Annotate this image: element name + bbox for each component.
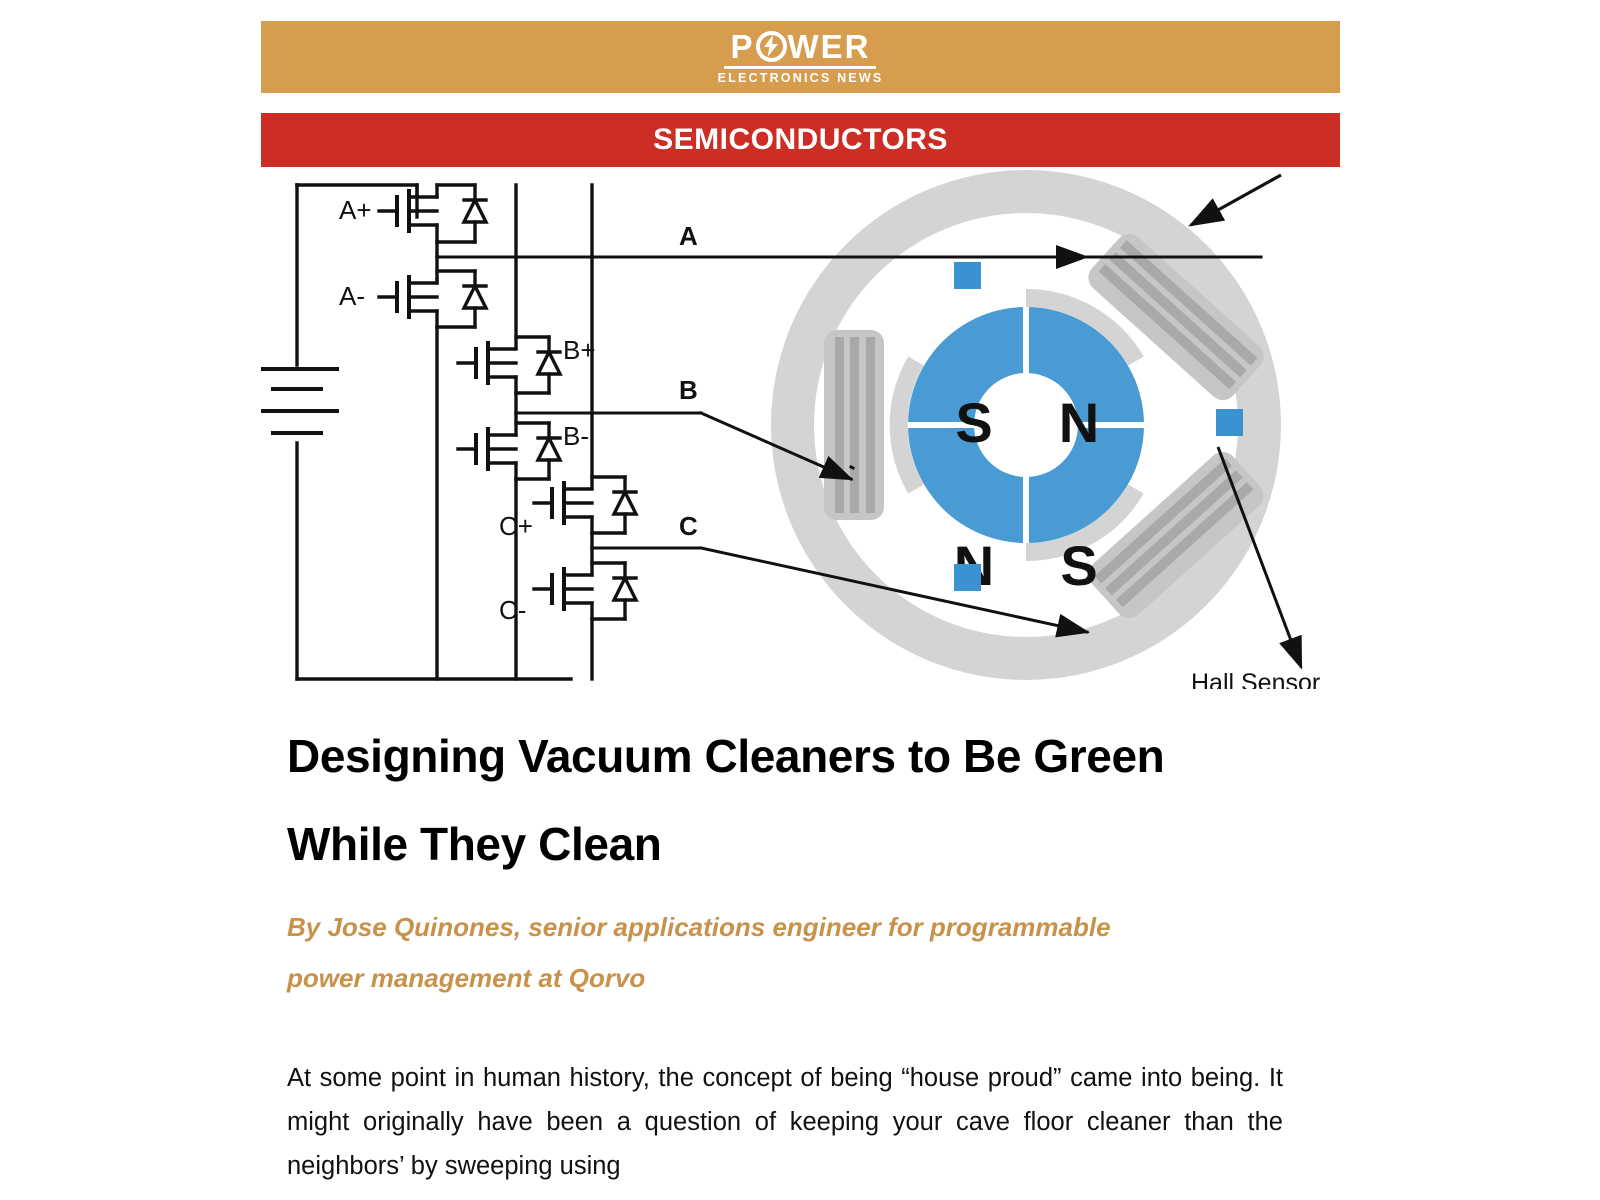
phase-label-a: A <box>679 221 698 251</box>
hall-sensor-icon-bottom <box>954 564 981 591</box>
masthead-banner: P WER ELECTRONICS NEWS <box>261 21 1340 93</box>
logo-letter-p: P <box>730 30 754 63</box>
page-title: Designing Vacuum Cleaners to Be Green Wh… <box>287 712 1287 889</box>
phase-label-b: B <box>679 375 698 405</box>
phase-label-c: C <box>679 511 698 541</box>
logo-subtitle: ELECTRONICS NEWS <box>718 72 884 85</box>
lightning-bolt-icon <box>756 31 787 62</box>
hall-sensor-icon-right <box>1216 409 1243 436</box>
switch-label-a-plus: A+ <box>339 195 372 225</box>
switch-label-b-minus: B- <box>563 421 589 451</box>
logo-wordmark: P WER <box>730 30 870 63</box>
rotor-pole-label-top-right: N <box>1059 391 1099 454</box>
hall-sensor-caption: Hall Sensor <box>1191 669 1320 689</box>
bldc-motor-diagram: S N N S <box>261 167 1340 689</box>
dc-battery-symbol <box>261 369 337 433</box>
logo-letters-wer: WER <box>788 30 871 63</box>
switch-label-c-plus: C+ <box>499 511 533 541</box>
article-byline: By Jose Quinones, senior applications en… <box>287 902 1157 1003</box>
article-body-paragraph: At some point in human history, the conc… <box>287 1057 1283 1189</box>
rotor-pole-label-top-left: S <box>955 391 992 454</box>
motor-cross-section: S N N S <box>771 170 1281 680</box>
switch-label-a-minus: A- <box>339 281 365 311</box>
article-page: P WER ELECTRONICS NEWS SEMICONDUCTORS <box>0 0 1600 1200</box>
leader-to-stator <box>1191 175 1281 225</box>
switch-label-c-minus: C- <box>499 595 526 625</box>
logo-divider-rule <box>724 66 876 69</box>
rotor-pole-label-bottom-right: S <box>1060 534 1097 597</box>
hall-sensor-icon-top <box>954 262 981 289</box>
hero-figure-bldc-inverter: S N N S <box>261 167 1340 689</box>
stator-coil-left <box>824 330 884 520</box>
site-logo[interactable]: P WER ELECTRONICS NEWS <box>718 30 884 85</box>
category-label: SEMICONDUCTORS <box>653 123 948 157</box>
category-banner[interactable]: SEMICONDUCTORS <box>261 113 1340 167</box>
rotor-magnet-ring <box>908 307 1144 543</box>
phase-b-wire <box>851 467 853 468</box>
